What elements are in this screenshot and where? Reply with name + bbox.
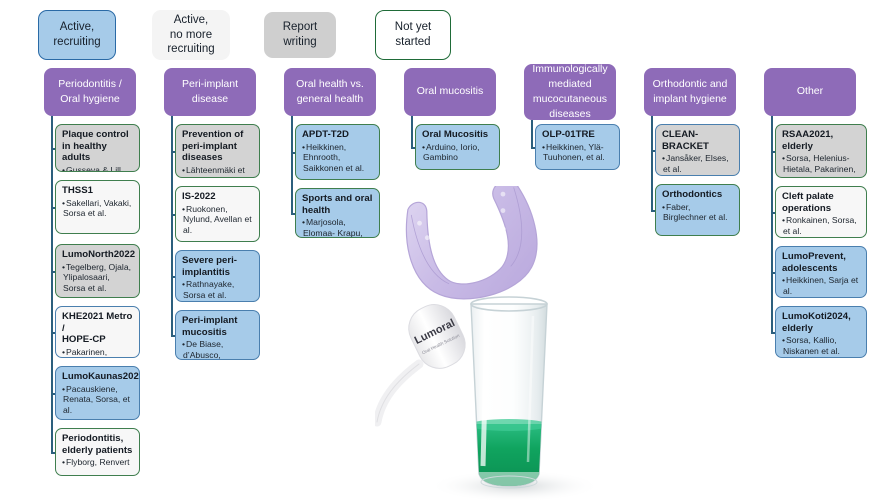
legend-item-2[interactable]: Report writing xyxy=(264,12,336,58)
study-card[interactable]: Plaque control in healthy adultsGusseva … xyxy=(55,124,140,172)
study-card[interactable]: THSS1Sakellari, Vakaki, Sorsa et al. xyxy=(55,180,140,234)
study-title: Sports and oral health xyxy=(302,193,373,216)
study-card[interactable]: LumoKoti2024, elderlySorsa, Kallio, Nisk… xyxy=(775,306,867,358)
study-authors: Flyborg, Renvert xyxy=(62,457,133,468)
study-card[interactable]: LumoKaunas2023Pacauskiene, Renata, Sorsa… xyxy=(55,366,140,420)
connector-trunk-4 xyxy=(531,120,533,147)
study-card[interactable]: Prevention of peri-implant diseasesLähte… xyxy=(175,124,260,178)
study-authors: Arduino, Iorio, Gambino xyxy=(422,142,493,163)
connector-trunk-2 xyxy=(291,116,293,213)
product-photo: Lumoral Oral Health Solution xyxy=(375,186,645,504)
study-card[interactable]: APDT-T2DHeikkinen, Ehnrooth, Saikkonen e… xyxy=(295,124,380,180)
study-card[interactable]: Oral MucositisArduino, Iorio, Gambino xyxy=(415,124,500,170)
study-card[interactable]: Peri-implant mucositisDe Biase, d’Abusco… xyxy=(175,310,260,360)
study-title: Cleft palate operations xyxy=(782,191,860,214)
connector-trunk-0 xyxy=(51,116,53,452)
study-title: APDT-T2D xyxy=(302,129,373,141)
study-card[interactable]: Severe peri- implantitisRathnayake, Sors… xyxy=(175,250,260,302)
study-title: THSS1 xyxy=(62,185,133,197)
legend-item-1[interactable]: Active, no more recruiting xyxy=(152,10,230,60)
study-card[interactable]: RSAA2021, elderlySorsa, Helenius- Hietal… xyxy=(775,124,867,178)
study-authors: Ronkainen, Sorsa, et al. xyxy=(782,215,860,236)
connector-trunk-1 xyxy=(171,116,173,335)
study-authors: Faber, Birglechner et al. xyxy=(662,202,733,223)
study-authors: Rathnayake, Sorsa et al. xyxy=(182,279,253,300)
legend-item-0[interactable]: Active, recruiting xyxy=(38,10,116,60)
study-authors: Lähteenmäki et al. xyxy=(182,165,253,178)
study-title: LumoKaunas2023 xyxy=(62,371,133,383)
study-title: Peri-implant mucositis xyxy=(182,315,253,338)
study-authors: Sorsa, Helenius- Hietala, Pakarinen, Kor… xyxy=(782,153,860,178)
study-title: Prevention of peri-implant diseases xyxy=(182,129,253,164)
study-authors: Gusseva & Lill xyxy=(62,165,133,172)
connector-trunk-3 xyxy=(411,116,413,147)
study-title: RSAA2021, elderly xyxy=(782,129,860,152)
study-title: Severe peri- implantitis xyxy=(182,255,253,278)
study-card[interactable]: OLP-01TREHeikkinen, Ylä- Tuuhonen, et al… xyxy=(535,124,620,170)
category-header-6[interactable]: Other xyxy=(764,68,856,116)
category-header-4[interactable]: Immunologically mediated mucocutaneous d… xyxy=(524,64,616,120)
category-header-3[interactable]: Oral mucositis xyxy=(404,68,496,116)
study-authors: De Biase, d’Abusco, Lollobrigida et al. xyxy=(182,339,253,360)
category-header-5[interactable]: Orthodontic and implant hygiene xyxy=(644,68,736,116)
study-title: LumoKoti2024, elderly xyxy=(782,311,860,334)
study-authors: Heikkinen, Ylä- Tuuhonen, et al. xyxy=(542,142,613,163)
study-title: Plaque control in healthy adults xyxy=(62,129,133,164)
study-authors: Heikkinen, Ehnrooth, Saikkonen et al. xyxy=(302,142,373,174)
study-card[interactable]: OrthodonticsFaber, Birglechner et al. xyxy=(655,184,740,236)
study-card[interactable]: LumoNorth2022Tegelberg, Ojala, Ylipalosa… xyxy=(55,244,140,298)
study-authors: Sorsa, Kallio, Niskanen et al. xyxy=(782,335,860,356)
legend-item-3[interactable]: Not yet started xyxy=(375,10,451,60)
study-title: IS-2022 xyxy=(182,191,253,203)
study-title: Orthodontics xyxy=(662,189,733,201)
study-authors: Ruokonen, Nylund, Avellan et al. xyxy=(182,204,253,236)
study-authors: Sakellari, Vakaki, Sorsa et al. xyxy=(62,198,133,219)
study-card[interactable]: KHE2021 Metro / HOPE-CPPakarinen, Sorsa,… xyxy=(55,306,140,358)
connector-trunk-6 xyxy=(771,116,773,332)
study-card[interactable]: Cleft palate operationsRonkainen, Sorsa,… xyxy=(775,186,867,238)
study-authors: Jansåker, Elses, et al. xyxy=(662,153,733,174)
category-header-0[interactable]: Periodontitis / Oral hygiene xyxy=(44,68,136,116)
study-title: Periodontitis, elderly patients xyxy=(62,433,133,456)
study-authors: Tegelberg, Ojala, Ylipalosaari, Sorsa et… xyxy=(62,262,133,294)
study-title: LumoPrevent, adolescents xyxy=(782,251,860,274)
study-card[interactable]: LumoPrevent, adolescentsHeikkinen, Sarja… xyxy=(775,246,867,298)
study-authors: Heikkinen, Sarja et al. xyxy=(782,275,860,296)
category-header-1[interactable]: Peri-implant disease xyxy=(164,68,256,116)
study-authors: Marjosola, Elomaa- Krapu, Pätilä, et al. xyxy=(302,217,373,238)
study-title: OLP-01TRE xyxy=(542,129,613,141)
study-title: KHE2021 Metro / HOPE-CP xyxy=(62,311,133,346)
study-title: LumoNorth2022 xyxy=(62,249,133,261)
connector-trunk-5 xyxy=(651,116,653,210)
diagram-canvas: Active, recruitingActive, no more recrui… xyxy=(0,0,896,504)
study-title: Oral Mucositis xyxy=(422,129,493,141)
study-card[interactable]: Sports and oral healthMarjosola, Elomaa-… xyxy=(295,188,380,238)
study-card[interactable]: IS-2022Ruokonen, Nylund, Avellan et al. xyxy=(175,186,260,242)
category-header-2[interactable]: Oral health vs. general health xyxy=(284,68,376,116)
study-title: CLEAN- BRACKET xyxy=(662,129,733,152)
study-authors: Pakarinen, Sorsa, et al. xyxy=(62,347,133,358)
study-authors: Pacauskiene, Renata, Sorsa, et al. xyxy=(62,384,133,416)
study-card[interactable]: Periodontitis, elderly patientsFlyborg, … xyxy=(55,428,140,476)
study-card[interactable]: CLEAN- BRACKETJansåker, Elses, et al. xyxy=(655,124,740,176)
